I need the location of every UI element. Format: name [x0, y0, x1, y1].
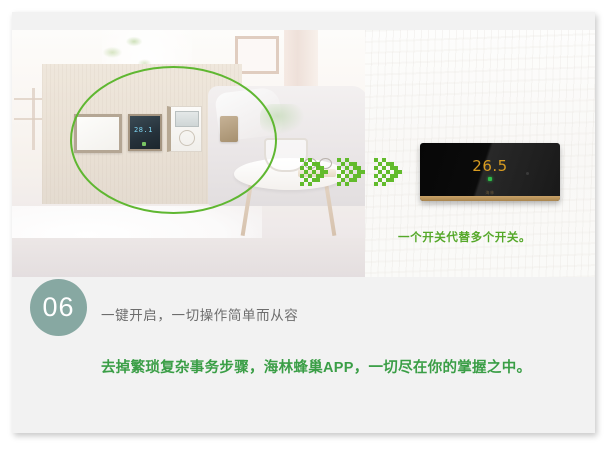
- highlight-ellipse: [70, 66, 277, 214]
- thermostat-gold-base: [420, 196, 560, 201]
- hero-image: 28.1: [12, 30, 595, 277]
- slide-subtitle: 一键开启，一切操作简单而从容: [101, 304, 298, 324]
- hero-caption: 一个开关代替多个开关。: [398, 229, 531, 245]
- thermostat-temperature: 26.5: [420, 157, 560, 175]
- railing-post: [32, 88, 35, 150]
- status-led-icon: [488, 177, 492, 181]
- sensor-dot-icon: [526, 172, 529, 175]
- touch-panel-thermostat: 26.5 海林: [420, 143, 560, 201]
- chevron-arrows-group: [300, 152, 408, 196]
- floor: [12, 238, 365, 277]
- step-number-badge: 06: [30, 279, 87, 336]
- chevron-right-icon: [300, 152, 334, 196]
- slide-body-text: 去掉繁琐复杂事务步骤，海林蜂巢APP，一切尽在你的掌握之中。: [101, 356, 579, 381]
- chevron-right-icon: [374, 152, 408, 196]
- chevron-right-icon: [337, 152, 371, 196]
- slide-card: 28.1: [12, 12, 595, 433]
